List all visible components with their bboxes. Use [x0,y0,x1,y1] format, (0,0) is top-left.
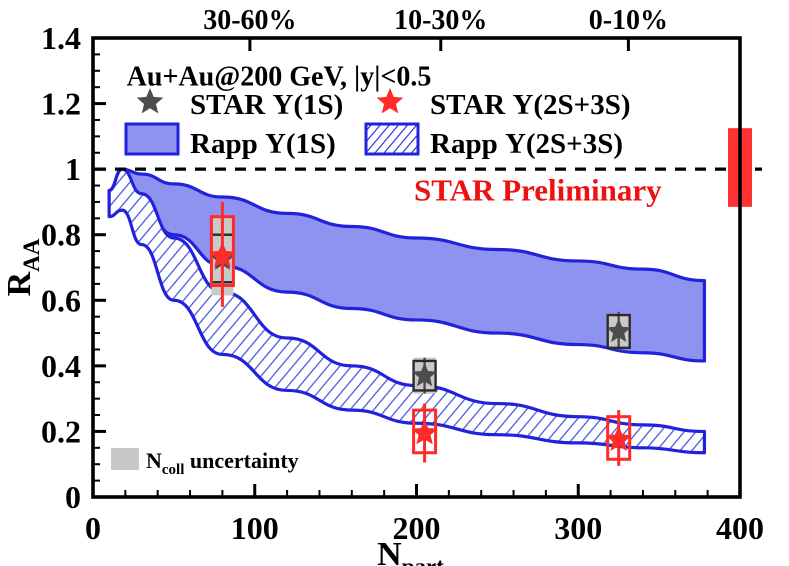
ytick-label-1: 0.2 [41,413,81,449]
xtick-label-1: 100 [231,510,279,546]
legend-item-rapp-23s[interactable]: Rapp Υ(2S+3S) [366,124,623,160]
xtick-label-4: 400 [716,510,764,546]
legend-label-star-23s: STAR Υ(2S+3S) [430,89,631,121]
raa-vs-npart-plot: 010020030040000.20.40.60.811.21.430-60%1… [0,0,789,566]
datapoint-ups1s-2 [606,312,631,351]
xtick-label-3: 300 [554,510,602,546]
centrality-label-2: 0-10% [589,5,668,36]
chart-canvas: 010020030040000.20.40.60.811.21.430-60%1… [0,0,789,566]
legend-hatchbox-icon [366,124,418,154]
xtick-label-0: 0 [85,510,101,546]
datapoint-ups1s-1 [412,358,437,394]
ytick-label-3: 0.6 [41,282,81,318]
legend-label-rapp-23s: Rapp Υ(2S+3S) [430,128,623,160]
ytick-label-5: 1 [65,151,81,187]
ncoll-swatch [111,448,139,470]
legend-item-rapp-1s[interactable]: Rapp Υ(1S) [126,124,336,160]
ytick-label-2: 0.4 [41,348,81,384]
legend-label-star-1s: STAR Υ(1S) [190,89,343,121]
ytick-label-7: 1.4 [41,20,81,56]
legend-label-rapp-1s: Rapp Υ(1S) [190,128,336,160]
legend-box-icon [126,124,178,154]
ytick-label-6: 1.2 [41,86,81,122]
centrality-label-1: 10-30% [394,5,487,36]
system-label: Au+Au@200 GeV, |y|<0.5 [127,62,432,93]
centrality-label-0: 30-60% [203,5,296,36]
star-preliminary: STAR Preliminary [414,172,662,207]
ytick-label-4: 0.8 [41,217,81,253]
ytick-label-0: 0 [65,479,81,515]
